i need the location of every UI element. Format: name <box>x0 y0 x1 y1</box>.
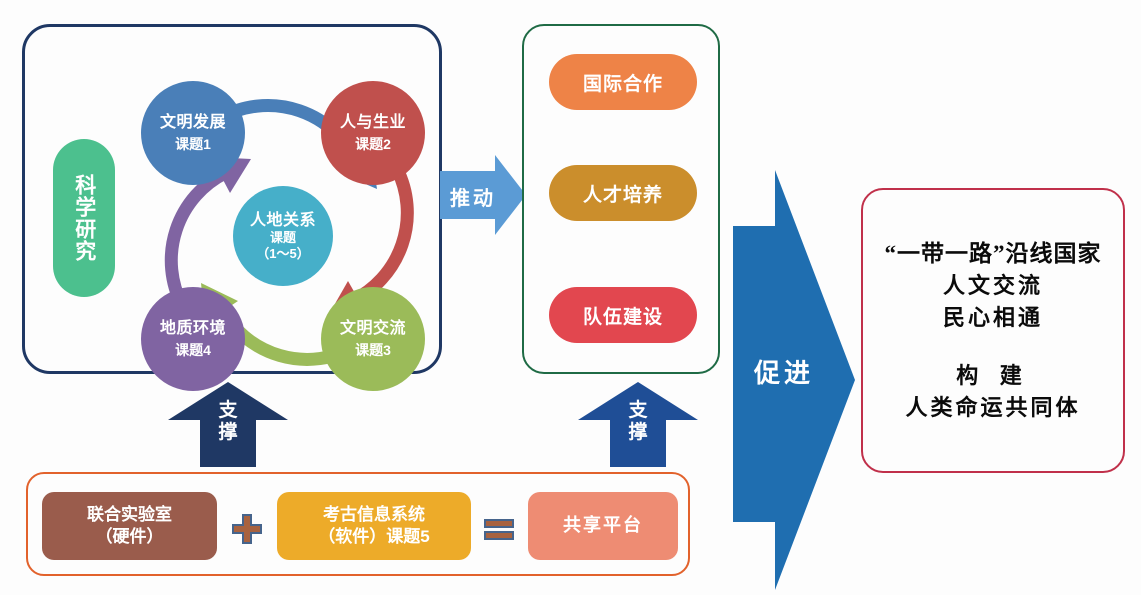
science-research-label: 科学研究 <box>72 174 96 262</box>
outcome-pill-0-label: 国际合作 <box>583 69 663 96</box>
platform-box-2-line1: 共享平台 <box>563 514 643 537</box>
cycle-center-sub1: 课题 <box>270 230 296 246</box>
goal-line-4: 构 建 <box>885 360 1102 392</box>
platform-box-archaeology-info-system[interactable]: 考古信息系统 （软件）课题5 <box>277 492 471 560</box>
cycle-center-sub2: （1～5） <box>256 246 309 262</box>
cycle-node-3[interactable]: 文明交流 课题3 <box>321 287 425 391</box>
cycle-node-4-title: 地质环境 <box>160 319 226 339</box>
platform-box-joint-lab[interactable]: 联合实验室 （硬件） <box>42 492 217 560</box>
platform-box-0-line2: （硬件） <box>96 526 164 548</box>
goal-line-1: “一带一路”沿线国家 <box>885 237 1102 270</box>
science-research-pill: 科学研究 <box>53 139 115 297</box>
support-arrow-left-char2: 撑 <box>206 422 250 444</box>
goal-line-3: 民心相通 <box>885 302 1102 334</box>
equals-icon <box>484 514 514 544</box>
cycle-node-4-sub: 课题4 <box>175 341 211 359</box>
push-arrow: 推动 <box>440 155 526 235</box>
support-arrow-right-label: 支 撑 <box>616 400 660 444</box>
plus-icon-shape <box>232 514 262 544</box>
support-arrow-right: 支 撑 <box>578 382 698 467</box>
goal-line-2: 人文交流 <box>885 270 1102 302</box>
push-arrow-label: 推动 <box>444 182 502 211</box>
diagram-canvas: 科学研究 <box>0 0 1141 595</box>
equals-icon-shape <box>484 514 514 544</box>
cycle-node-2-sub: 课题2 <box>355 135 391 153</box>
promote-arrow-label: 促进 <box>745 353 823 390</box>
promote-arrow: 促进 <box>733 170 855 590</box>
plus-icon <box>232 514 262 544</box>
support-arrow-left-label: 支 撑 <box>206 400 250 444</box>
research-cycle: 文明发展 课题1 人与生业 课题2 文明交流 课题3 地质环境 课题4 人地关系… <box>125 73 455 403</box>
outcome-pill-2-label: 队伍建设 <box>583 302 663 329</box>
goal-panel: “一带一路”沿线国家 人文交流 民心相通 构 建 人类命运共同体 <box>861 188 1125 473</box>
support-arrow-right-char1: 支 <box>616 400 660 422</box>
platform-box-shared-platform[interactable]: 共享平台 <box>528 492 678 560</box>
goal-text-block: “一带一路”沿线国家 人文交流 民心相通 构 建 人类命运共同体 <box>885 237 1102 424</box>
support-arrow-left: 支 撑 <box>168 382 288 467</box>
platform-box-1-line2: （软件）课题5 <box>318 526 429 548</box>
cycle-node-1-sub: 课题1 <box>175 135 211 153</box>
outcome-panel: 国际合作 人才培养 队伍建设 <box>522 24 720 374</box>
platform-panel: 联合实验室 （硬件） 考古信息系统 （软件）课题5 共享平台 <box>26 472 690 576</box>
cycle-node-3-title: 文明交流 <box>340 319 406 339</box>
outcome-pill-1-label: 人才培养 <box>583 180 663 207</box>
cycle-node-2[interactable]: 人与生业 课题2 <box>321 81 425 185</box>
support-arrow-left-char1: 支 <box>206 400 250 422</box>
outcome-pill-talent-training[interactable]: 人才培养 <box>549 165 697 221</box>
platform-box-0-line1: 联合实验室 <box>87 504 172 526</box>
cycle-node-4[interactable]: 地质环境 课题4 <box>141 287 245 391</box>
support-arrow-right-char2: 撑 <box>616 422 660 444</box>
cycle-node-1-title: 文明发展 <box>160 113 226 133</box>
cycle-center-title: 人地关系 <box>250 211 316 230</box>
cycle-node-1[interactable]: 文明发展 课题1 <box>141 81 245 185</box>
goal-spacer <box>885 334 1102 360</box>
platform-box-1-line1: 考古信息系统 <box>323 504 425 526</box>
outcome-pill-international-cooperation[interactable]: 国际合作 <box>549 54 697 110</box>
cycle-node-2-title: 人与生业 <box>340 113 406 133</box>
research-panel: 科学研究 <box>22 24 442 374</box>
cycle-center-node[interactable]: 人地关系 课题 （1～5） <box>233 186 333 286</box>
outcome-pill-team-building[interactable]: 队伍建设 <box>549 287 697 343</box>
cycle-node-3-sub: 课题3 <box>355 341 391 359</box>
goal-line-5: 人类命运共同体 <box>885 392 1102 424</box>
